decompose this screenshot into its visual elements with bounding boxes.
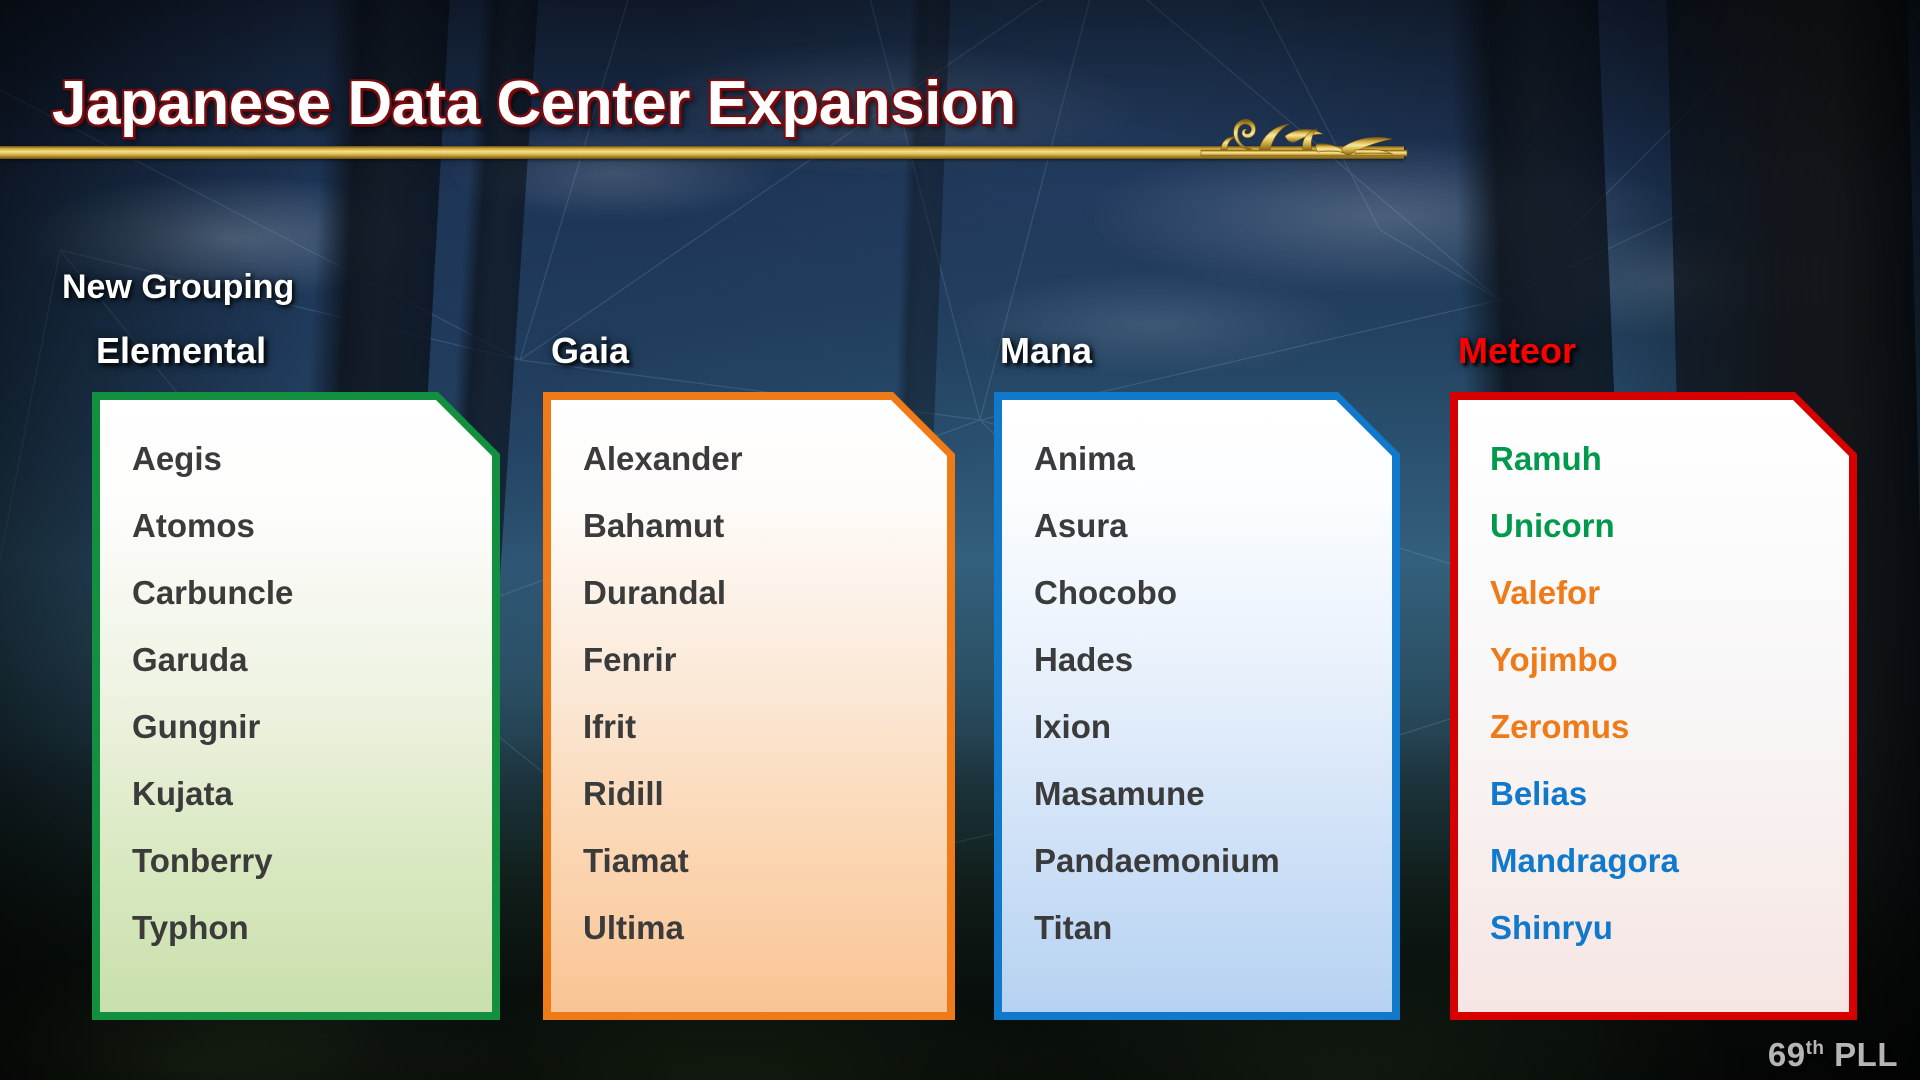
card-mana-body: Anima Asura Chocobo Hades Ixion Masamune… bbox=[1002, 400, 1392, 1012]
column-header-elemental: Elemental bbox=[96, 330, 266, 372]
new-grouping-label: New Grouping bbox=[62, 268, 294, 307]
card-meteor[interactable]: Ramuh Unicorn Valefor Yojimbo Zeromus Be… bbox=[1450, 392, 1857, 1020]
list-item[interactable]: Garuda bbox=[132, 643, 492, 676]
list-item[interactable]: Gungnir bbox=[132, 710, 492, 743]
list-item[interactable]: Ridill bbox=[583, 777, 947, 810]
list-item[interactable]: Titan bbox=[1034, 911, 1392, 944]
list-item[interactable]: Hades bbox=[1034, 643, 1392, 676]
list-item[interactable]: Tiamat bbox=[583, 844, 947, 877]
slide-root: Japanese Data Center Expansion bbox=[0, 0, 1920, 1080]
list-item[interactable]: Fenrir bbox=[583, 643, 947, 676]
gold-flourish-icon bbox=[1195, 106, 1415, 168]
watermark-number: 69 bbox=[1768, 1036, 1806, 1073]
list-item[interactable]: Bahamut bbox=[583, 509, 947, 542]
column-header-meteor: Meteor bbox=[1458, 330, 1576, 372]
card-gaia-body: Alexander Bahamut Durandal Fenrir Ifrit … bbox=[551, 400, 947, 1012]
card-gaia[interactable]: Alexander Bahamut Durandal Fenrir Ifrit … bbox=[543, 392, 955, 1020]
list-item[interactable]: Ixion bbox=[1034, 710, 1392, 743]
title-block: Japanese Data Center Expansion bbox=[0, 68, 1460, 178]
title-rule bbox=[0, 146, 1404, 159]
list-item[interactable]: Ramuh bbox=[1490, 442, 1849, 475]
watermark-suffix: th bbox=[1806, 1038, 1825, 1059]
card-mana[interactable]: Anima Asura Chocobo Hades Ixion Masamune… bbox=[994, 392, 1400, 1020]
list-item[interactable]: Masamune bbox=[1034, 777, 1392, 810]
watermark-label: PLL bbox=[1834, 1036, 1898, 1073]
list-item[interactable]: Yojimbo bbox=[1490, 643, 1849, 676]
list-item[interactable]: Zeromus bbox=[1490, 710, 1849, 743]
list-item[interactable]: Atomos bbox=[132, 509, 492, 542]
list-item[interactable]: Asura bbox=[1034, 509, 1392, 542]
list-item[interactable]: Valefor bbox=[1490, 576, 1849, 609]
list-item[interactable]: Aegis bbox=[132, 442, 492, 475]
list-item[interactable]: Anima bbox=[1034, 442, 1392, 475]
card-elemental-body: Aegis Atomos Carbuncle Garuda Gungnir Ku… bbox=[100, 400, 492, 1012]
card-elemental[interactable]: Aegis Atomos Carbuncle Garuda Gungnir Ku… bbox=[92, 392, 500, 1020]
column-header-mana: Mana bbox=[1000, 330, 1092, 372]
card-meteor-body: Ramuh Unicorn Valefor Yojimbo Zeromus Be… bbox=[1458, 400, 1849, 1012]
list-item[interactable]: Carbuncle bbox=[132, 576, 492, 609]
list-item[interactable]: Typhon bbox=[132, 911, 492, 944]
list-item[interactable]: Mandragora bbox=[1490, 844, 1849, 877]
list-item[interactable]: Shinryu bbox=[1490, 911, 1849, 944]
list-item[interactable]: Pandaemonium bbox=[1034, 844, 1392, 877]
list-item[interactable]: Chocobo bbox=[1034, 576, 1392, 609]
list-item[interactable]: Unicorn bbox=[1490, 509, 1849, 542]
list-item[interactable]: Ifrit bbox=[583, 710, 947, 743]
watermark: 69th PLL bbox=[1768, 1036, 1898, 1074]
column-header-gaia: Gaia bbox=[551, 330, 629, 372]
list-item[interactable]: Kujata bbox=[132, 777, 492, 810]
list-item[interactable]: Belias bbox=[1490, 777, 1849, 810]
list-item[interactable]: Tonberry bbox=[132, 844, 492, 877]
list-item[interactable]: Durandal bbox=[583, 576, 947, 609]
list-item[interactable]: Alexander bbox=[583, 442, 947, 475]
list-item[interactable]: Ultima bbox=[583, 911, 947, 944]
page-title: Japanese Data Center Expansion bbox=[52, 68, 1016, 139]
